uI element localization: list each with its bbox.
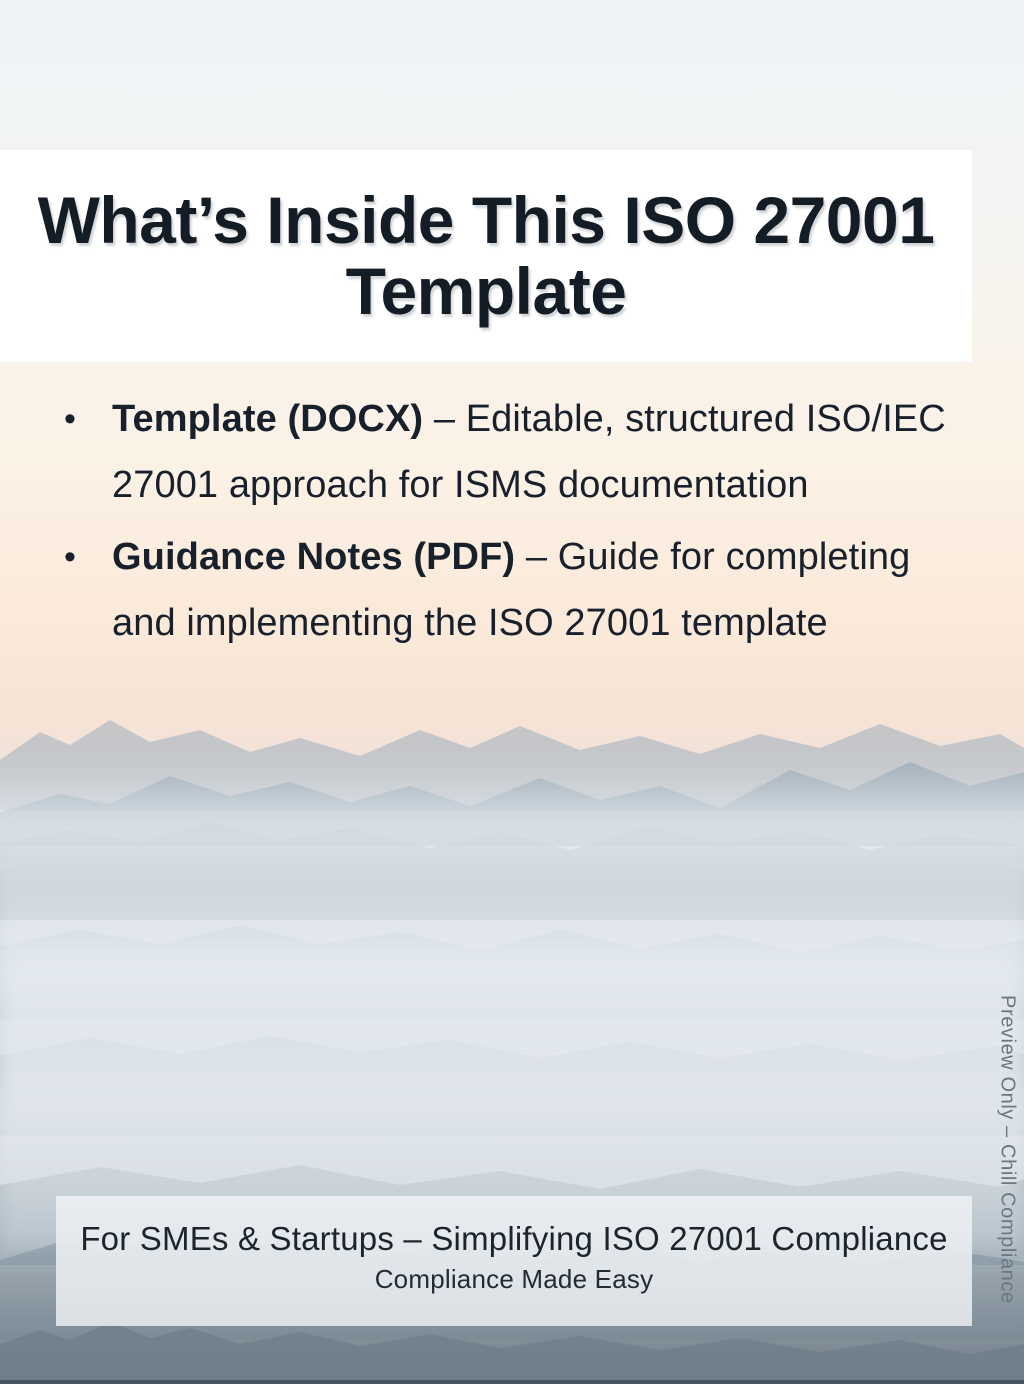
preview-watermark: Preview Only – Chill Compliance <box>990 995 1024 1335</box>
list-item-text: Guidance Notes (PDF) – Guide for complet… <box>112 524 956 656</box>
mist-wash <box>0 820 1024 1250</box>
list-item-lead: Template (DOCX) <box>112 398 423 440</box>
slide-canvas: What’s Inside This ISO 27001 Template • … <box>0 0 1024 1384</box>
preview-watermark-text: Preview Only – Chill Compliance <box>996 995 1019 1304</box>
list-item-text: Template (DOCX) – Editable, structured I… <box>112 386 956 518</box>
bullet-list: • Template (DOCX) – Editable, structured… <box>56 386 956 662</box>
list-item: • Guidance Notes (PDF) – Guide for compl… <box>56 524 956 656</box>
bottom-edge-line <box>0 1380 1024 1384</box>
footer-tagline: For SMEs & Startups – Simplifying ISO 27… <box>80 1220 947 1258</box>
page-title: What’s Inside This ISO 27001 Template <box>36 185 936 328</box>
footer-panel: For SMEs & Startups – Simplifying ISO 27… <box>56 1196 972 1326</box>
list-item-lead: Guidance Notes (PDF) <box>112 536 515 578</box>
bullet-dot-icon: • <box>56 524 112 590</box>
bullet-dot-icon: • <box>56 386 112 452</box>
title-panel: What’s Inside This ISO 27001 Template <box>0 150 972 362</box>
footer-subtagline: Compliance Made Easy <box>375 1264 654 1295</box>
list-item: • Template (DOCX) – Editable, structured… <box>56 386 956 518</box>
